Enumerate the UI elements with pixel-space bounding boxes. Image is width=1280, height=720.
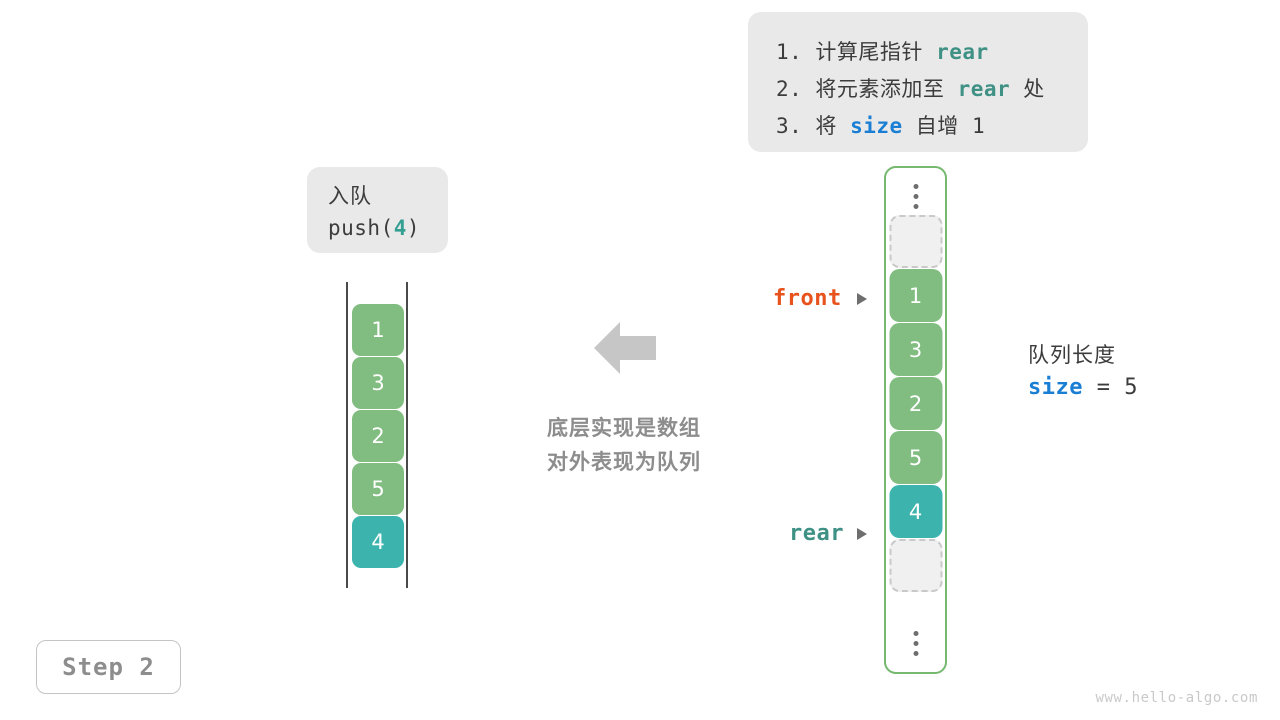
step-line-2-code: rear	[958, 77, 1011, 101]
queue-cell: 4	[352, 516, 404, 568]
step-line-2-suffix: 处	[1010, 77, 1045, 101]
steps-callout-box: 1. 计算尾指针 rear 2. 将元素添加至 rear 处 3. 将 size…	[748, 12, 1088, 152]
left-pointing-arrow-icon	[594, 320, 656, 380]
push-box-code: push(4)	[328, 212, 448, 245]
array-cell: 3	[889, 323, 942, 376]
size-note-expression: size = 5	[1028, 371, 1138, 405]
step-line-3: 3. 将 size 自增 1	[776, 108, 1060, 145]
array-cell: 4	[889, 485, 942, 538]
size-note-title: 队列长度	[1028, 340, 1138, 371]
right-array-cell-list: 13254	[889, 215, 942, 593]
right-array-container: 13254	[884, 166, 947, 674]
center-caption: 底层实现是数组 对外表现为队列	[500, 411, 748, 479]
step-line-2: 2. 将元素添加至 rear 处	[776, 71, 1060, 108]
step-badge: Step 2	[36, 640, 181, 694]
front-pointer-label: front	[773, 286, 842, 311]
push-code-suffix: )	[407, 216, 420, 240]
push-code-value: 4	[394, 216, 407, 240]
step-line-2-prefix: 2. 将元素添加至	[776, 77, 958, 101]
queue-rail-right	[406, 282, 408, 588]
caption-line-1: 底层实现是数组	[500, 411, 748, 445]
left-queue-view: 13254	[330, 282, 426, 588]
rear-pointer-arrow-icon	[857, 528, 867, 540]
queue-cell: 5	[352, 463, 404, 515]
size-value: 5	[1124, 375, 1138, 400]
queue-rail-left	[346, 282, 348, 588]
array-cell: 2	[889, 377, 942, 430]
step-line-1: 1. 计算尾指针 rear	[776, 34, 1060, 71]
watermark: www.hello-algo.com	[1095, 690, 1258, 706]
step-badge-label: Step 2	[62, 653, 155, 681]
queue-cell: 2	[352, 410, 404, 462]
bottom-ellipsis-icon	[913, 631, 918, 656]
push-operation-box: 入队 push(4)	[307, 167, 448, 253]
push-code-prefix: push(	[328, 216, 394, 240]
size-equals: =	[1083, 375, 1124, 400]
caption-line-2: 对外表现为队列	[500, 445, 748, 479]
push-box-title: 入队	[328, 181, 448, 212]
array-cell: 5	[889, 431, 942, 484]
queue-size-annotation: 队列长度 size = 5	[1028, 340, 1138, 405]
step-line-3-prefix: 3. 将	[776, 114, 850, 138]
step-line-3-code: size	[850, 114, 903, 138]
front-pointer-arrow-icon	[857, 293, 867, 305]
array-cell: 1	[889, 269, 942, 322]
step-line-3-suffix: 自增 1	[903, 114, 985, 138]
array-empty-slot	[889, 215, 942, 268]
left-queue-cell-list: 13254	[352, 304, 404, 569]
step-line-1-prefix: 1. 计算尾指针	[776, 40, 936, 64]
queue-cell: 1	[352, 304, 404, 356]
step-line-1-code: rear	[936, 40, 989, 64]
top-ellipsis-icon	[913, 184, 918, 209]
size-var-name: size	[1028, 375, 1083, 400]
diagram-canvas: 1. 计算尾指针 rear 2. 将元素添加至 rear 处 3. 将 size…	[0, 0, 1280, 720]
rear-pointer-label: rear	[789, 521, 844, 546]
queue-cell: 3	[352, 357, 404, 409]
array-empty-slot	[889, 539, 942, 592]
